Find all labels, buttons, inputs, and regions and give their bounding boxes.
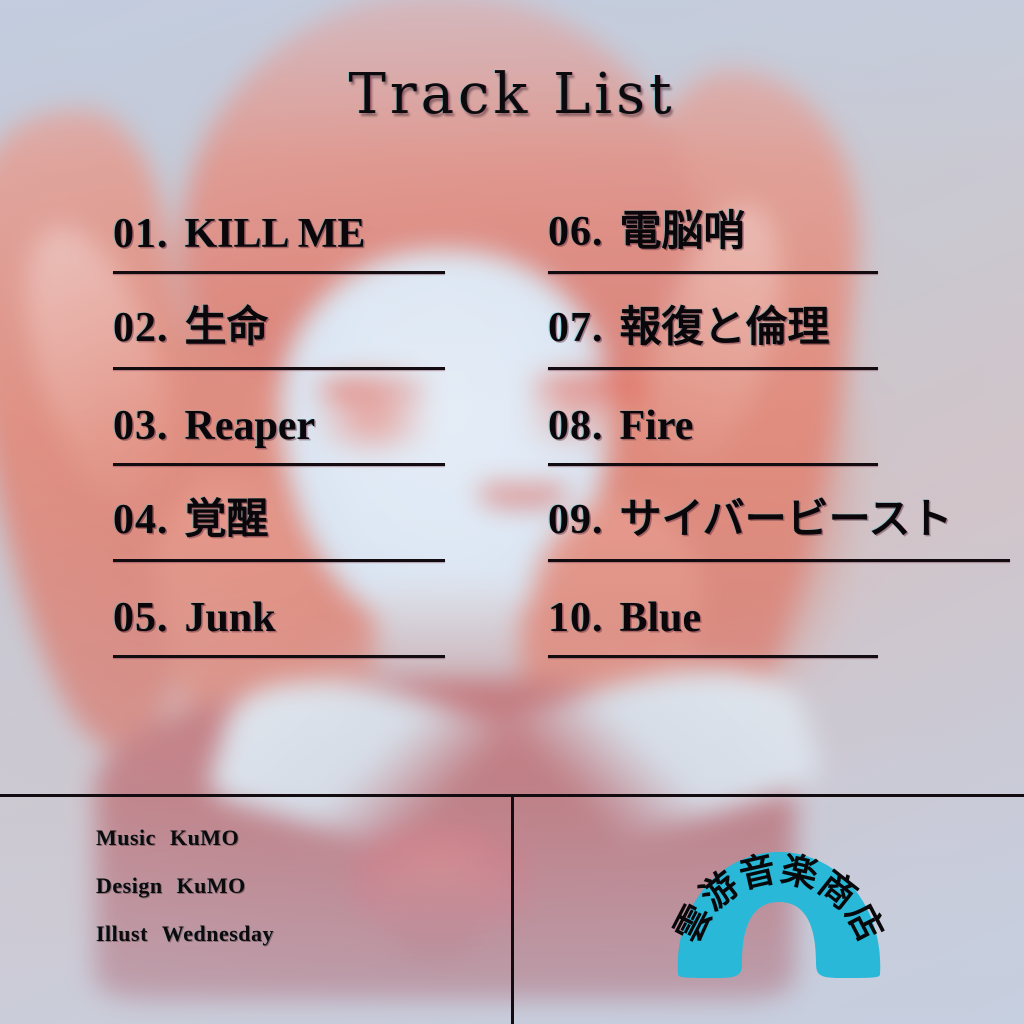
track-row: 10.Blue bbox=[548, 562, 1018, 658]
track-column-right: 06.電脳哨 07.報復と倫理 08.Fire 09.サイバービースト bbox=[548, 178, 1018, 658]
credit-name: KuMO bbox=[177, 873, 246, 898]
track-number: 04. bbox=[113, 497, 169, 543]
track-title: KILL ME bbox=[185, 211, 366, 257]
track-entry-07: 07.報復と倫理 bbox=[548, 293, 830, 354]
track-row: 06.電脳哨 bbox=[548, 178, 1018, 274]
track-title: 覚醒 bbox=[185, 497, 269, 543]
track-title: 生命 bbox=[185, 305, 269, 351]
album-track-list-artwork: Track List 01.KILL ME 02.生命 03.Reaper bbox=[0, 0, 1024, 1024]
page-title: Track List bbox=[0, 62, 1024, 127]
track-number: 05. bbox=[113, 595, 169, 641]
track-column-left: 01.KILL ME 02.生命 03.Reaper 04.覚醒 bbox=[113, 178, 453, 658]
track-title: サイバービースト bbox=[620, 497, 953, 543]
track-row: 05.Junk bbox=[113, 562, 453, 658]
track-entry-04: 04.覚醒 bbox=[113, 485, 269, 546]
track-entry-03: 03.Reaper bbox=[113, 402, 315, 450]
track-entry-06: 06.電脳哨 bbox=[548, 197, 746, 258]
track-row: 08.Fire bbox=[548, 370, 1018, 466]
footer-vertical-divider bbox=[511, 794, 514, 1024]
credit-name: Wednesday bbox=[162, 921, 274, 946]
track-title: Blue bbox=[620, 595, 702, 641]
track-title: 電脳哨 bbox=[620, 209, 746, 255]
credits-block: MusicKuMO DesignKuMO IllustWednesday bbox=[96, 825, 274, 947]
credit-design: DesignKuMO bbox=[96, 873, 274, 899]
track-row: 02.生命 bbox=[113, 274, 453, 370]
track-underline bbox=[113, 655, 445, 658]
track-entry-02: 02.生命 bbox=[113, 293, 269, 354]
track-number: 09. bbox=[548, 497, 604, 543]
track-number: 02. bbox=[113, 305, 169, 351]
credit-role: Music bbox=[96, 825, 156, 850]
track-entry-01: 01.KILL ME bbox=[113, 210, 365, 258]
track-title: Junk bbox=[185, 595, 276, 641]
credit-music: MusicKuMO bbox=[96, 825, 274, 851]
track-number: 08. bbox=[548, 403, 604, 449]
track-title: Reaper bbox=[185, 403, 316, 449]
track-entry-08: 08.Fire bbox=[548, 402, 693, 450]
track-title: 報復と倫理 bbox=[620, 305, 830, 351]
track-row: 07.報復と倫理 bbox=[548, 274, 1018, 370]
track-underline bbox=[548, 655, 878, 658]
track-row: 09.サイバービースト bbox=[548, 466, 1018, 562]
credit-role: Illust bbox=[96, 921, 148, 946]
track-number: 10. bbox=[548, 595, 604, 641]
track-title: Fire bbox=[620, 403, 694, 449]
track-entry-09: 09.サイバービースト bbox=[548, 485, 953, 546]
track-number: 06. bbox=[548, 209, 604, 255]
track-number: 07. bbox=[548, 305, 604, 351]
credit-role: Design bbox=[96, 873, 163, 898]
track-number: 03. bbox=[113, 403, 169, 449]
track-row: 01.KILL ME bbox=[113, 178, 453, 274]
track-row: 03.Reaper bbox=[113, 370, 453, 466]
uniform-ribbon-tail bbox=[388, 880, 484, 960]
track-row: 04.覚醒 bbox=[113, 466, 453, 562]
track-number: 01. bbox=[113, 211, 169, 257]
track-entry-05: 05.Junk bbox=[113, 594, 276, 642]
credit-illust: IllustWednesday bbox=[96, 921, 274, 947]
credit-name: KuMO bbox=[170, 825, 239, 850]
label-logo: 雲游音楽商店 bbox=[668, 846, 890, 978]
track-entry-10: 10.Blue bbox=[548, 594, 701, 642]
